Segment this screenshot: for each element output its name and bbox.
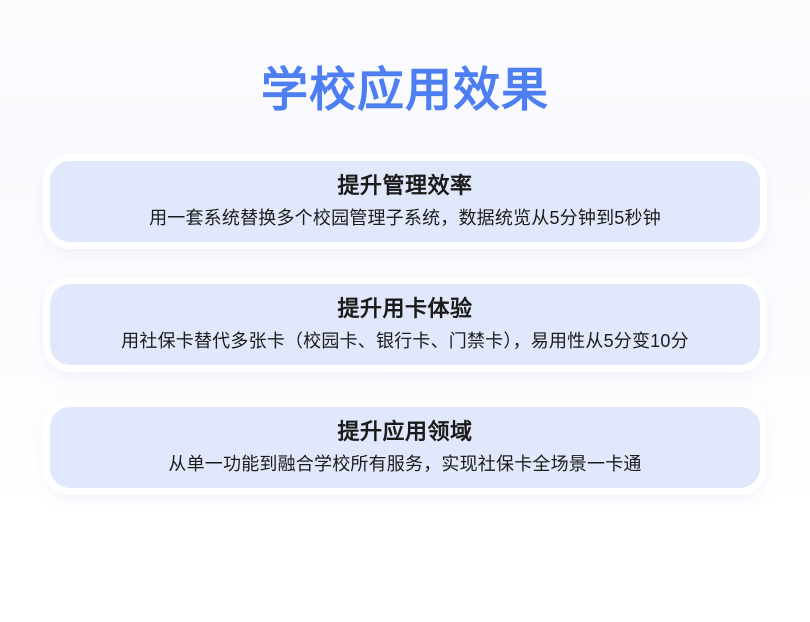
benefit-card-1: 提升管理效率 用一套系统替换多个校园管理子系统，数据统览从5分钟到5秒钟 xyxy=(44,155,766,248)
benefit-card-1-title: 提升管理效率 xyxy=(337,171,472,201)
slide-root: 学校应用效果 提升管理效率 用一套系统替换多个校园管理子系统，数据统览从5分钟到… xyxy=(0,0,810,622)
benefit-card-1-description: 用一套系统替换多个校园管理子系统，数据统览从5分钟到5秒钟 xyxy=(149,204,661,232)
benefit-card-3-description: 从单一功能到融合学校所有服务，实现社保卡全场景一卡通 xyxy=(168,450,641,478)
benefit-card-2: 提升用卡体验 用社保卡替代多张卡（校园卡、银行卡、门禁卡），易用性从5分变10分 xyxy=(44,278,766,371)
benefit-card-list: 提升管理效率 用一套系统替换多个校园管理子系统，数据统览从5分钟到5秒钟 提升用… xyxy=(44,155,766,494)
benefit-card-2-description: 用社保卡替代多张卡（校园卡、银行卡、门禁卡），易用性从5分变10分 xyxy=(121,327,689,355)
benefit-card-3-title: 提升应用领域 xyxy=(337,417,472,447)
benefit-card-2-title: 提升用卡体验 xyxy=(337,294,472,324)
page-title: 学校应用效果 xyxy=(0,62,810,118)
benefit-card-3: 提升应用领域 从单一功能到融合学校所有服务，实现社保卡全场景一卡通 xyxy=(44,401,766,494)
